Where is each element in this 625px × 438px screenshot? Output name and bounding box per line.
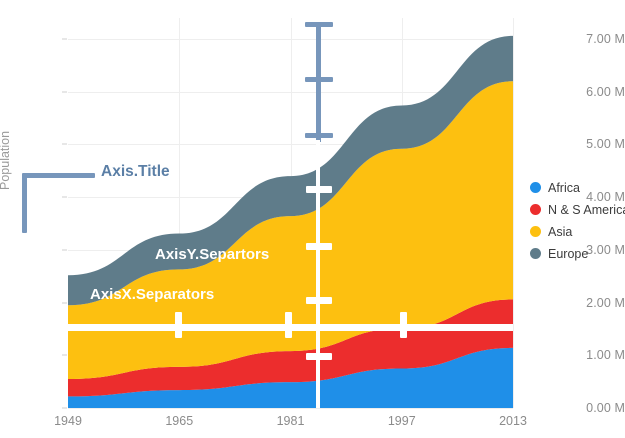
chart-legend: AfricaN & S AmericaAsiaEurope — [530, 178, 625, 266]
axisy-separator-line — [316, 140, 320, 408]
y-tick-mark — [62, 249, 67, 250]
x-tick-label: 1965 — [165, 414, 193, 428]
axisy-separator-indicator-line — [316, 22, 321, 142]
plot-area — [68, 18, 513, 408]
legend-item-label: N & S America — [548, 203, 625, 217]
y-tick-mark — [62, 39, 67, 40]
annotation-axisy-separators: AxisY.Separtors — [155, 246, 269, 263]
y-tick-label: 6.00 M — [567, 85, 625, 99]
axisy-separator-tick — [306, 243, 332, 250]
y-tick-mark — [62, 302, 67, 303]
y-tick-mark — [62, 197, 67, 198]
annotation-axis-title: Axis.Title — [101, 163, 170, 181]
axisy-separator-tick — [306, 297, 332, 304]
axisy-separator-tick — [305, 77, 333, 82]
y-tick-label: 7.00 M — [567, 32, 625, 46]
x-gridline — [513, 18, 514, 408]
x-tick-label: 1981 — [277, 414, 305, 428]
x-tick-label: 2013 — [499, 414, 527, 428]
annotation-axisx-separators: AxisX.Separators — [90, 286, 214, 303]
legend-item-label: Europe — [548, 247, 588, 261]
y-tick-label: 2.00 M — [567, 296, 625, 310]
y-axis-title: Population — [0, 131, 12, 190]
area-chart: Population 0.00 M1.00 M2.00 M3.00 M4.00 … — [0, 0, 625, 438]
axisx-separator-tick — [285, 312, 292, 338]
legend-item[interactable]: Africa — [530, 178, 625, 197]
y-tick-mark — [62, 355, 67, 356]
axisy-separator-tick — [306, 353, 332, 360]
legend-item[interactable]: N & S America — [530, 200, 625, 219]
legend-item-label: Asia — [548, 225, 572, 239]
y-tick-label: 5.00 M — [567, 137, 625, 151]
x-tick-label: 1997 — [388, 414, 416, 428]
y-tick-mark — [62, 144, 67, 145]
legend-swatch-icon — [530, 226, 541, 237]
axisy-separator-tick — [305, 133, 333, 138]
legend-swatch-icon — [530, 248, 541, 259]
y-gridline — [68, 408, 513, 409]
y-tick-mark — [62, 408, 67, 409]
y-tick-label: 1.00 M — [567, 348, 625, 362]
stacked-area-series — [68, 18, 513, 408]
axisy-separator-tick — [305, 22, 333, 27]
axisx-separator-tick — [175, 312, 182, 338]
axis-title-bracket-vertical — [22, 175, 27, 233]
y-tick-mark — [62, 91, 67, 92]
axis-title-bracket-horizontal — [22, 173, 95, 178]
legend-item-label: Africa — [548, 181, 580, 195]
axisy-separator-tick — [306, 186, 332, 193]
legend-item[interactable]: Europe — [530, 244, 625, 263]
x-tick-label: 1949 — [54, 414, 82, 428]
y-tick-label: 0.00 M — [567, 401, 625, 415]
legend-item[interactable]: Asia — [530, 222, 625, 241]
legend-swatch-icon — [530, 182, 541, 193]
axisx-separator-tick — [400, 312, 407, 338]
legend-swatch-icon — [530, 204, 541, 215]
